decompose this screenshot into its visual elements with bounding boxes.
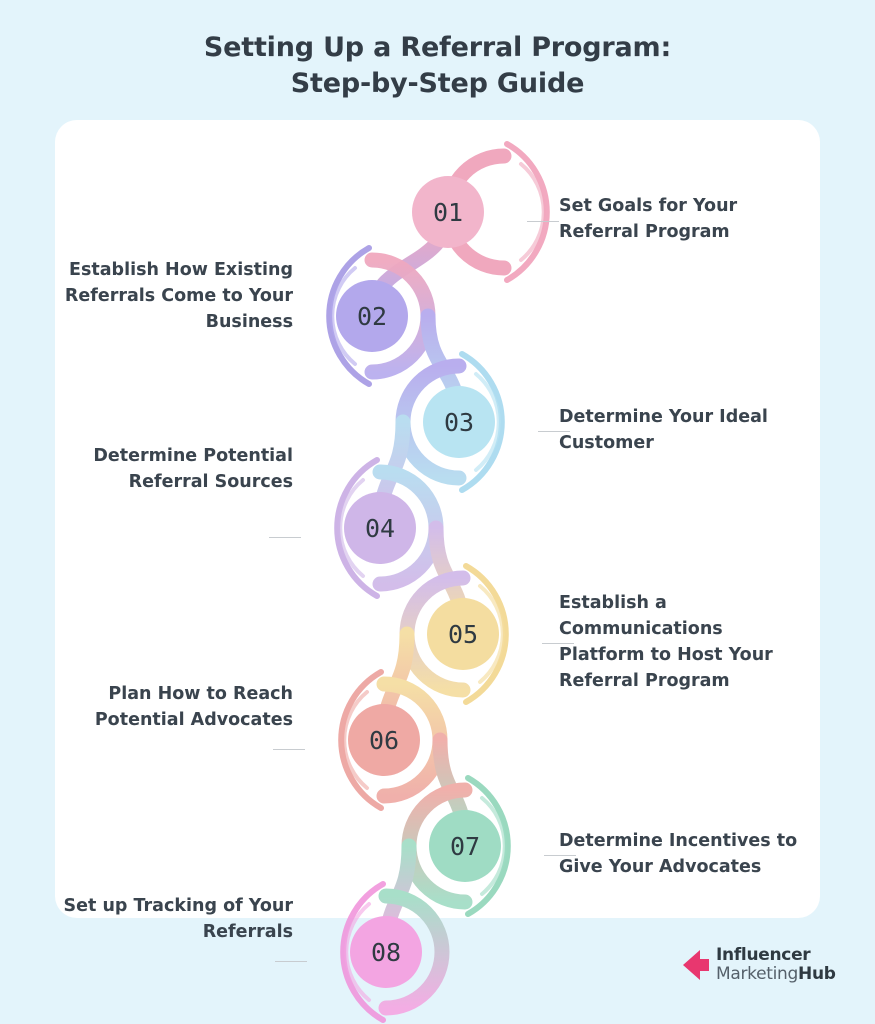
logo-hub: Hub bbox=[798, 964, 836, 984]
logo-line-influencer: Influencer bbox=[716, 946, 836, 965]
step-label-01: Set Goals for Your Referral Program bbox=[559, 194, 819, 246]
arrow-logo-icon bbox=[683, 950, 709, 980]
connector-04 bbox=[269, 537, 301, 538]
infographic-card: 01 02 03 04 05 06 07 08 Set Goals for Yo… bbox=[55, 120, 820, 918]
step-label-06: Plan How to Reach Potential Advocates bbox=[33, 682, 293, 734]
title-line-2: Step-by-Step Guide bbox=[0, 66, 875, 102]
page-title: Setting Up a Referral Program: Step-by-S… bbox=[0, 30, 875, 102]
step-label-05: Establish a Communications Platform to H… bbox=[559, 591, 809, 695]
logo-wordmark: Influencer MarketingHub bbox=[716, 946, 836, 984]
step-bubble-04[interactable]: 04 bbox=[344, 492, 416, 564]
step-bubble-05[interactable]: 05 bbox=[427, 598, 499, 670]
connector-06 bbox=[273, 749, 305, 750]
step-number-01: 01 bbox=[433, 198, 463, 227]
step-bubble-03[interactable]: 03 bbox=[423, 386, 495, 458]
step-bubble-02[interactable]: 02 bbox=[336, 280, 408, 352]
step-number-02: 02 bbox=[357, 302, 387, 331]
step-bubble-08[interactable]: 08 bbox=[350, 916, 422, 988]
step-label-04: Determine Potential Referral Sources bbox=[33, 444, 293, 496]
step-label-02: Establish How Existing Referrals Come to… bbox=[33, 258, 293, 336]
logo-marketing: Marketing bbox=[716, 964, 798, 984]
connector-08 bbox=[275, 961, 307, 962]
step-label-03: Determine Your Ideal Customer bbox=[559, 405, 819, 457]
brand-logo[interactable]: Influencer MarketingHub bbox=[683, 946, 836, 984]
step-bubble-06[interactable]: 06 bbox=[348, 704, 420, 776]
step-bubble-01[interactable]: 01 bbox=[412, 176, 484, 248]
connector-01 bbox=[527, 221, 559, 222]
logo-line-marketinghub: MarketingHub bbox=[716, 965, 836, 984]
step-number-04: 04 bbox=[365, 514, 395, 543]
step-number-08: 08 bbox=[371, 938, 401, 967]
step-number-05: 05 bbox=[448, 620, 478, 649]
step-number-06: 06 bbox=[369, 726, 399, 755]
step-label-07: Determine Incentives to Give Your Advoca… bbox=[559, 829, 815, 881]
step-number-07: 07 bbox=[450, 832, 480, 861]
step-number-03: 03 bbox=[444, 408, 474, 437]
title-line-1: Setting Up a Referral Program: bbox=[0, 30, 875, 66]
step-label-08: Set up Tracking of Your Referrals bbox=[33, 894, 293, 946]
step-bubble-07[interactable]: 07 bbox=[429, 810, 501, 882]
